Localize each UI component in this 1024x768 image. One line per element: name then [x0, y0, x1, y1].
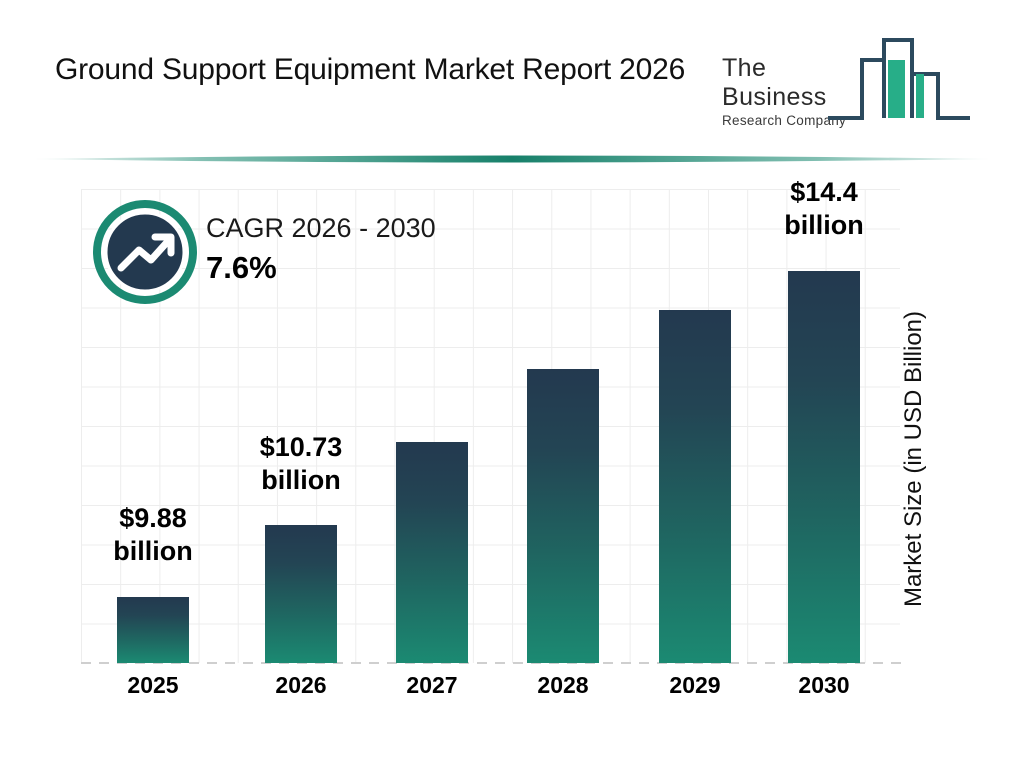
bar-2025[interactable] [117, 597, 189, 663]
bar-2028[interactable] [527, 369, 599, 663]
bar-value-label-2026: $10.73 billion [216, 431, 386, 497]
bar-value-label-2025: $9.88 billion [68, 502, 238, 568]
bar-value-line2: billion [216, 464, 386, 497]
chart-page: Ground Support Equipment Market Report 2… [0, 0, 1024, 768]
cagr-period-label: CAGR 2026 - 2030 [206, 210, 506, 246]
x-tick-2025: 2025 [73, 672, 233, 699]
cagr-badge: CAGR 2026 - 2030 7.6% [93, 200, 513, 310]
bar-2027[interactable] [396, 442, 468, 663]
cagr-text: CAGR 2026 - 2030 7.6% [206, 210, 506, 288]
bar-value-line1: $10.73 [216, 431, 386, 464]
company-logo: The Business Research Company [722, 34, 972, 130]
bar-2026[interactable] [265, 525, 337, 663]
bar-value-line1: $9.88 [68, 502, 238, 535]
bar-value-line1: $14.4 [739, 176, 909, 209]
y-axis-title-wrap: Market Size (in USD Billion) [894, 270, 934, 660]
bar-2030[interactable] [788, 271, 860, 663]
page-title: Ground Support Equipment Market Report 2… [55, 48, 715, 92]
trending-up-icon [93, 200, 197, 304]
bar-2029[interactable] [659, 310, 731, 663]
chart-area: $9.88 billion $10.73 billion $14.4 billi… [0, 160, 1024, 768]
bar-value-line2: billion [739, 209, 909, 242]
header: Ground Support Equipment Market Report 2… [0, 0, 1024, 160]
y-axis-title: Market Size (in USD Billion) [900, 264, 928, 654]
x-axis-labels: 2025 2026 2027 2028 2029 2030 [0, 668, 1024, 714]
bar-value-line2: billion [68, 535, 238, 568]
cagr-value: 7.6% [206, 248, 506, 288]
bar-chart-logo-mark [826, 34, 972, 126]
bar-value-label-2030: $14.4 billion [739, 176, 909, 242]
x-tick-2030: 2030 [744, 672, 904, 699]
